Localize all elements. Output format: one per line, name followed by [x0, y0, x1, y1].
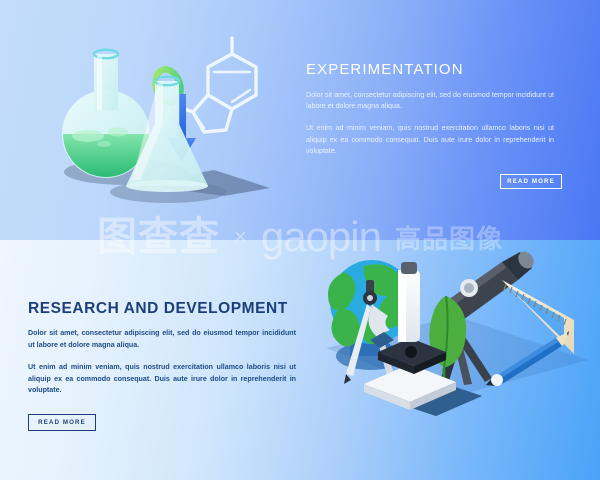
experimentation-illustration [18, 20, 308, 220]
page-title-research: RESEARCH AND DEVELOPMENT [28, 300, 296, 317]
research-paragraph-1: Dolor sit amet, consectetur adipiscing e… [28, 328, 296, 351]
research-paragraph-2: Ut enim ad minim veniam, quis nostrud ex… [28, 362, 296, 396]
read-more-button-research[interactable]: READ MORE [28, 414, 96, 431]
banner-experimentation: EXPERIMENTATION Dolor sit amet, consecte… [0, 0, 600, 240]
page-title-experimentation: EXPERIMENTATION [306, 62, 554, 79]
research-illustration [306, 244, 594, 416]
banner-research-and-development: RESEARCH AND DEVELOPMENT Dolor sit amet,… [0, 240, 600, 480]
banner-stage: EXPERIMENTATION Dolor sit amet, consecte… [0, 0, 600, 480]
read-more-button-experimentation[interactable]: READ MORE [500, 174, 562, 189]
experimentation-copy: EXPERIMENTATION Dolor sit amet, consecte… [306, 62, 554, 169]
research-copy: RESEARCH AND DEVELOPMENT Dolor sit amet,… [28, 300, 296, 407]
experimentation-paragraph-1: Dolor sit amet, consectetur adipiscing e… [306, 90, 554, 113]
experimentation-paragraph-2: Ut enim ad minim veniam, quis nostrud ex… [306, 123, 554, 157]
